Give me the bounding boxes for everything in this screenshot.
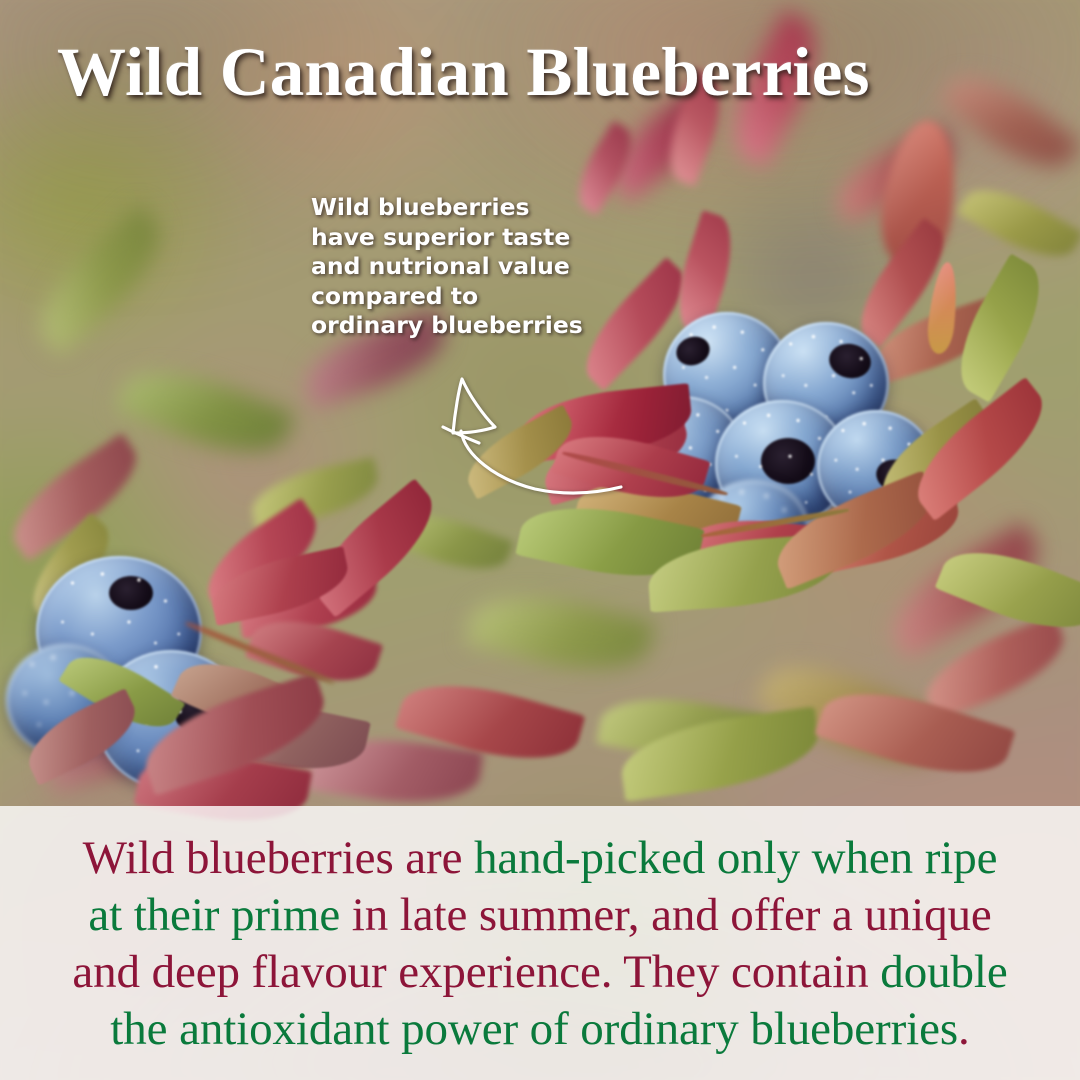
annotation-line: have superior taste <box>311 223 583 253</box>
caption-segment: Wild blueberries are <box>83 832 474 884</box>
annotation-line: and nutrional value <box>311 252 583 282</box>
caption-segment: . <box>958 1003 970 1055</box>
annotation-line: Wild blueberries <box>311 193 583 223</box>
caption-segment: hand-picked only when ripe <box>474 832 997 884</box>
page-title: Wild Canadian Blueberries <box>57 33 870 112</box>
caption-line-1: Wild blueberries are hand-picked only wh… <box>0 830 1080 887</box>
caption-line-2: at their prime in late summer, and offer… <box>0 887 1080 944</box>
annotation-line: ordinary blueberries <box>311 311 583 341</box>
caption-line-4: the antioxidant power of ordinary bluebe… <box>0 1001 1080 1058</box>
caption-segment: and deep flavour experience. They contai… <box>72 946 880 998</box>
annotation-line: compared to <box>311 282 583 312</box>
caption-line-3: and deep flavour experience. They contai… <box>0 944 1080 1001</box>
caption-segment: in late summer, and offer a unique <box>352 889 992 941</box>
caption-text: Wild blueberries are hand-picked only wh… <box>0 830 1080 1058</box>
caption-segment: the antioxidant power of ordinary bluebe… <box>110 1003 958 1055</box>
annotation-callout: Wild blueberries have superior taste and… <box>311 193 583 341</box>
caption-segment: double <box>880 946 1007 998</box>
caption-band: Wild blueberries are hand-picked only wh… <box>0 806 1080 1080</box>
caption-segment: at their prime <box>88 889 351 941</box>
poster-canvas: Wild Canadian Blueberries Wild blueberri… <box>0 0 1080 1080</box>
